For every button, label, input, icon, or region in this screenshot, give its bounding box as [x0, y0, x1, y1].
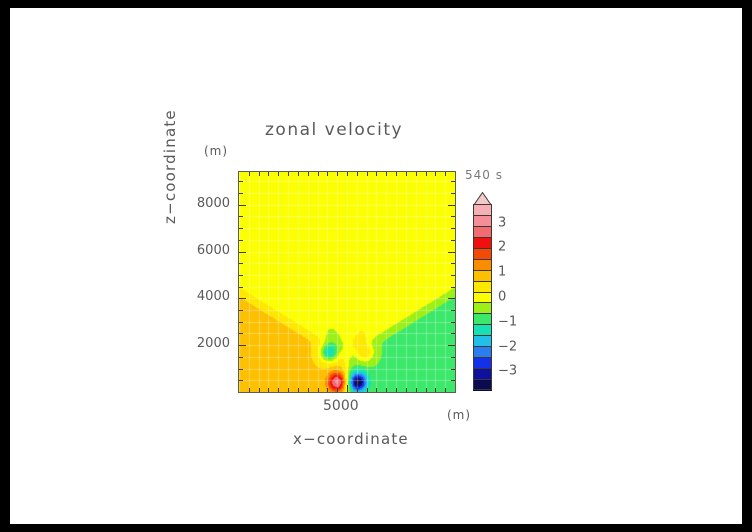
tick-mark: [451, 322, 455, 323]
tick-mark: [239, 275, 243, 276]
colorbar-tick-label: 3: [498, 215, 506, 230]
colorbar-band: [473, 237, 492, 249]
colorbar-band: [473, 248, 492, 260]
colorbar-band: [473, 302, 492, 314]
tick-mark: [396, 388, 397, 392]
tick-mark: [239, 216, 243, 217]
tick-mark: [239, 298, 246, 299]
tick-mark: [347, 172, 348, 176]
tick-mark: [318, 172, 319, 176]
tick-mark: [367, 172, 368, 176]
tick-mark: [308, 388, 309, 392]
y-axis-tick-label: 8000: [184, 196, 230, 211]
time-annotation: 540 s: [465, 168, 503, 182]
colorbar-band: [473, 357, 492, 369]
tick-mark: [318, 388, 319, 392]
tick-mark: [239, 240, 243, 241]
tick-mark: [451, 240, 455, 241]
tick-mark: [249, 388, 250, 392]
x-axis-units-label: (m): [447, 408, 471, 422]
colorbar-band: [473, 226, 492, 238]
tick-mark: [239, 228, 243, 229]
tick-mark: [239, 369, 243, 370]
tick-mark: [451, 310, 455, 311]
tick-mark: [327, 388, 328, 392]
tick-mark: [239, 193, 243, 194]
figure-canvas: zonal velocity (m) 540 s z−coordinate x−…: [10, 8, 742, 524]
tick-mark: [268, 172, 269, 176]
tick-mark: [435, 388, 436, 392]
tick-mark: [327, 172, 328, 176]
tick-mark: [239, 322, 243, 323]
tick-mark: [239, 357, 243, 358]
tick-mark: [386, 388, 387, 392]
tick-mark: [451, 228, 455, 229]
tick-mark: [448, 252, 455, 253]
tick-mark: [239, 345, 246, 346]
page-title: zonal velocity: [265, 120, 403, 140]
tick-mark: [426, 172, 427, 176]
tick-mark: [416, 172, 417, 176]
tick-mark: [426, 388, 427, 392]
tick-mark: [288, 172, 289, 176]
colorbar-band: [473, 292, 492, 304]
tick-mark: [406, 172, 407, 176]
colorbar[interactable]: [473, 204, 492, 390]
tick-mark: [249, 172, 250, 176]
tick-mark: [357, 388, 358, 392]
tick-mark: [239, 333, 243, 334]
colorbar-band: [473, 324, 492, 336]
tick-mark: [445, 388, 446, 392]
colorbar-tick-label: −3: [498, 364, 517, 379]
tick-mark: [239, 310, 243, 311]
tick-mark: [347, 385, 348, 392]
tick-mark: [396, 172, 397, 176]
tick-mark: [451, 380, 455, 381]
tick-mark: [416, 388, 417, 392]
tick-mark: [268, 388, 269, 392]
tick-mark: [451, 275, 455, 276]
tick-mark: [376, 172, 377, 176]
tick-mark: [239, 181, 243, 182]
colorbar-overflow-cap: [473, 191, 492, 205]
colorbar-band: [473, 313, 492, 325]
y-axis-tick-label: 4000: [184, 289, 230, 304]
tick-mark: [298, 388, 299, 392]
contour-plot-area[interactable]: [238, 171, 456, 393]
y-axis-tick-label: 6000: [184, 243, 230, 258]
tick-mark: [259, 388, 260, 392]
tick-mark: [376, 388, 377, 392]
tick-mark: [239, 263, 243, 264]
colorbar-band: [473, 204, 492, 216]
tick-mark: [451, 357, 455, 358]
tick-mark: [288, 388, 289, 392]
colorbar-band: [473, 346, 492, 358]
tick-mark: [367, 388, 368, 392]
tick-mark: [308, 172, 309, 176]
x-axis-title: x−coordinate: [293, 430, 409, 448]
tick-mark: [337, 388, 338, 392]
colorbar-tick-label: 1: [498, 265, 506, 280]
velocity-field-render: [239, 172, 455, 392]
y-axis-tick-label: 2000: [184, 336, 230, 351]
tick-mark: [298, 172, 299, 176]
colorbar-tick-label: −1: [498, 314, 517, 329]
y-axis-units-label: (m): [204, 144, 228, 158]
colorbar-tick-label: 2: [498, 240, 506, 255]
tick-mark: [278, 388, 279, 392]
colorbar-tick-label: 0: [498, 290, 506, 305]
tick-mark: [386, 172, 387, 176]
y-axis-title: z−coordinate: [161, 109, 179, 224]
tick-mark: [448, 205, 455, 206]
colorbar-tick-label: −2: [498, 339, 517, 354]
tick-mark: [406, 388, 407, 392]
tick-mark: [239, 380, 243, 381]
tick-mark: [239, 287, 243, 288]
tick-mark: [435, 172, 436, 176]
tick-mark: [451, 263, 455, 264]
tick-mark: [445, 172, 446, 176]
tick-mark: [239, 205, 246, 206]
tick-mark: [357, 172, 358, 176]
tick-mark: [337, 172, 338, 176]
tick-mark: [259, 172, 260, 176]
tick-mark: [448, 345, 455, 346]
colorbar-band: [473, 281, 492, 293]
tick-mark: [278, 172, 279, 176]
tick-mark: [451, 181, 455, 182]
colorbar-band: [473, 368, 492, 380]
figure-window: zonal velocity (m) 540 s z−coordinate x−…: [0, 0, 752, 532]
colorbar-band: [473, 379, 492, 391]
colorbar-band: [473, 215, 492, 227]
tick-mark: [448, 298, 455, 299]
tick-mark: [451, 333, 455, 334]
tick-mark: [451, 216, 455, 217]
tick-mark: [451, 287, 455, 288]
x-axis-tick-label: 5000: [323, 398, 359, 414]
colorbar-band: [473, 259, 492, 271]
tick-mark: [239, 252, 246, 253]
tick-mark: [451, 369, 455, 370]
colorbar-band: [473, 335, 492, 347]
colorbar-band: [473, 270, 492, 282]
tick-mark: [451, 193, 455, 194]
